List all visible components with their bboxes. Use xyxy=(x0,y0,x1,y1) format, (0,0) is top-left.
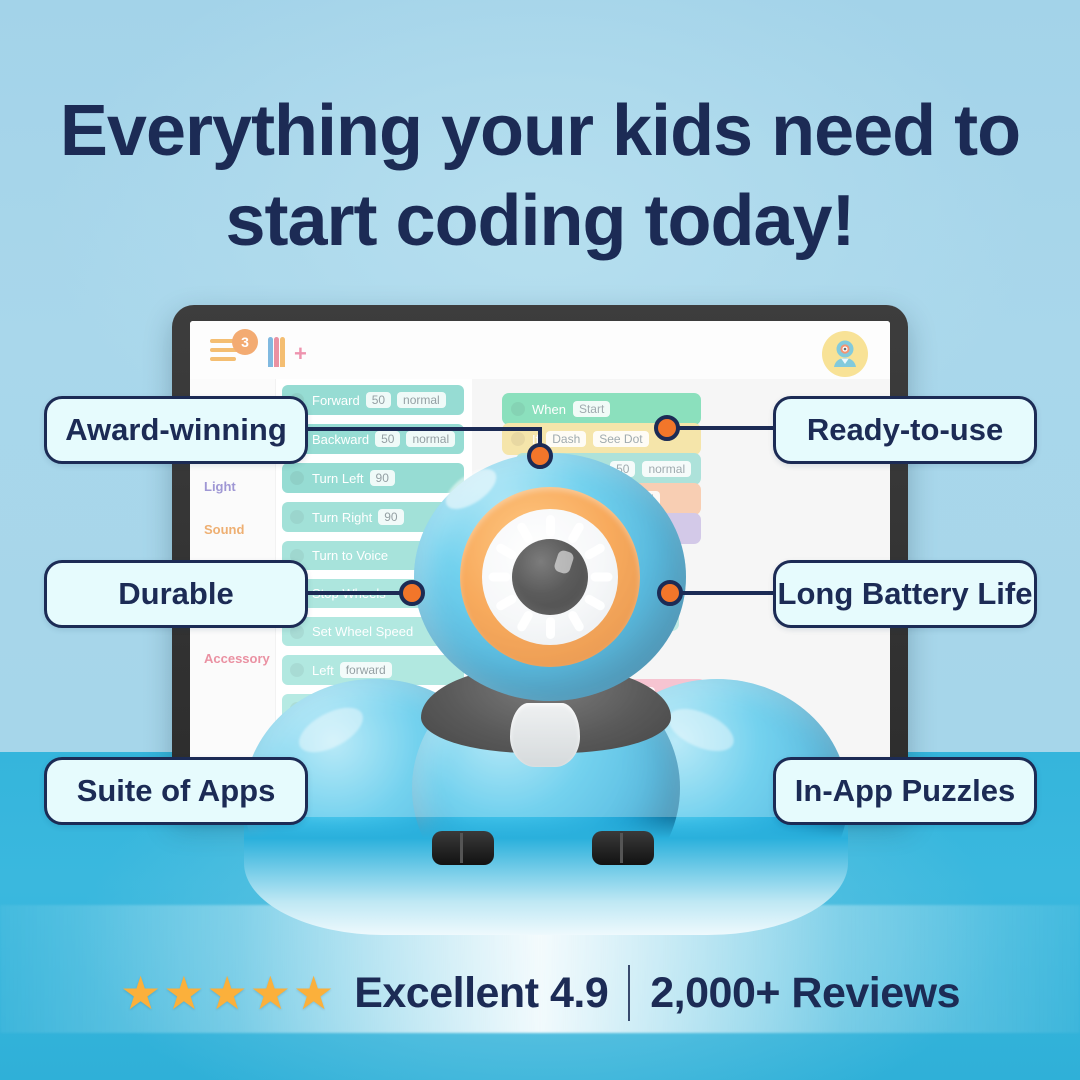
connector-dot-ready-to-use xyxy=(654,415,680,441)
palette-icon[interactable] xyxy=(268,337,290,367)
star-icon: ★ xyxy=(163,970,204,1016)
badge-count: 3 xyxy=(232,329,258,355)
add-icon[interactable]: + xyxy=(294,341,307,367)
robot-eye-ring xyxy=(460,487,640,667)
connector-dot-award-winning xyxy=(527,443,553,469)
robot-led-ring xyxy=(482,509,618,645)
star-icon: ★ xyxy=(206,970,247,1016)
connector-dot-durable xyxy=(399,580,425,606)
dash-robot-avatar-icon[interactable] xyxy=(822,331,868,377)
rating-divider xyxy=(628,965,630,1021)
app-toolbar: 3 + xyxy=(190,321,890,379)
star-rating: ★★★★★ xyxy=(120,970,334,1016)
robot-speaker-grille xyxy=(510,703,580,767)
robot-led-segment xyxy=(546,617,555,639)
page-title: Everything your kids need to start codin… xyxy=(0,86,1080,266)
star-icon: ★ xyxy=(293,970,334,1016)
robot-base xyxy=(244,817,848,935)
robot-wheel-left xyxy=(432,831,494,865)
code-block-param[interactable]: Start xyxy=(573,401,610,417)
feature-label-durable[interactable]: Durable xyxy=(44,560,308,628)
robot-led-segment xyxy=(590,573,612,582)
robot-pupil xyxy=(512,539,588,615)
connector-ready-to-use xyxy=(676,426,775,430)
feature-label-suite-of-apps[interactable]: Suite of Apps xyxy=(44,757,308,825)
code-block-param[interactable]: 50 xyxy=(366,392,391,408)
connector-award-winning xyxy=(305,427,542,431)
feature-label-text: Award-winning xyxy=(65,412,287,448)
robot-head xyxy=(414,453,686,701)
feature-label-long-battery-life[interactable]: Long Battery Life xyxy=(773,560,1037,628)
feature-label-text: In-App Puzzles xyxy=(795,773,1015,809)
headline-line-2: start coding today! xyxy=(0,176,1080,266)
feature-label-text: Long Battery Life xyxy=(778,576,1033,612)
robot-led-segment xyxy=(566,609,585,633)
headline-line-1: Everything your kids need to xyxy=(60,91,1020,171)
feature-label-award-winning[interactable]: Award-winning xyxy=(44,396,308,464)
feature-label-text: Durable xyxy=(118,576,233,612)
feature-label-ready-to-use[interactable]: Ready-to-use xyxy=(773,396,1037,464)
rating-score-text: Excellent 4.9 xyxy=(354,969,608,1018)
robot-led-segment xyxy=(494,593,518,612)
code-block-title: When xyxy=(532,402,566,417)
star-icon: ★ xyxy=(120,970,161,1016)
code-block[interactable]: Forward50normal xyxy=(282,385,464,415)
feature-label-text: Suite of Apps xyxy=(77,773,276,809)
robot-led-segment xyxy=(582,542,606,561)
code-block-title: Forward xyxy=(312,393,360,408)
robot-led-segment xyxy=(546,515,555,537)
rating-reviews-text: 2,000+ Reviews xyxy=(650,969,960,1018)
robot-led-segment xyxy=(488,573,510,582)
rating-strip: ★★★★★ Excellent 4.9 2,000+ Reviews xyxy=(0,962,1080,1024)
robot-led-segment xyxy=(515,521,534,545)
dash-robot-image xyxy=(236,445,856,945)
robot-wheel-right xyxy=(592,831,654,865)
star-icon: ★ xyxy=(250,970,291,1016)
robot-led-segment xyxy=(582,593,606,612)
robot-led-segment xyxy=(566,521,585,545)
robot-led-segment xyxy=(494,542,518,561)
connector-long-battery-life xyxy=(680,591,775,595)
code-block-param[interactable]: normal xyxy=(397,392,446,408)
promo-graphic: Everything your kids need to start codin… xyxy=(0,0,1080,1080)
feature-label-in-app-puzzles[interactable]: In-App Puzzles xyxy=(773,757,1037,825)
feature-label-text: Ready-to-use xyxy=(807,412,1003,448)
robot-led-segment xyxy=(515,609,534,633)
connector-dot-long-battery-life xyxy=(657,580,683,606)
